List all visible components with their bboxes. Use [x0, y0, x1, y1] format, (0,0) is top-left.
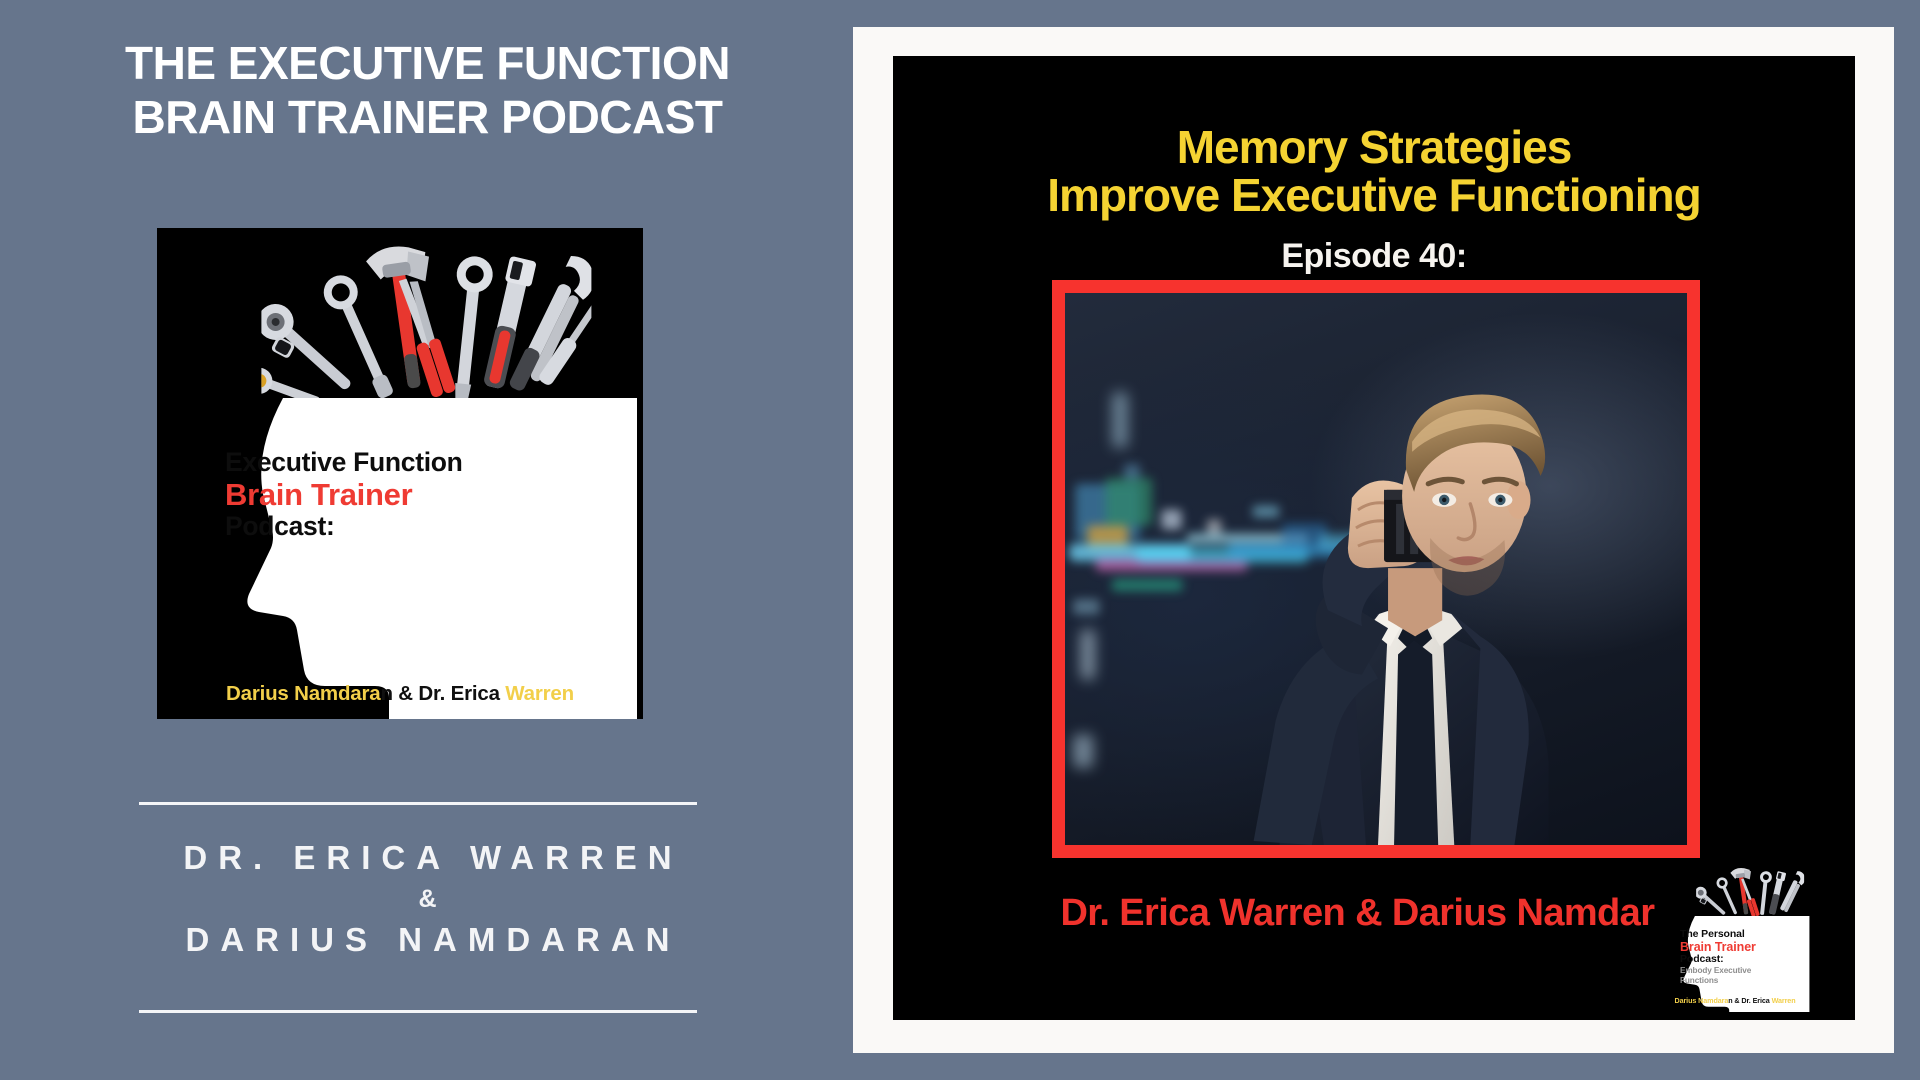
podcast-cover-art: Executive Function Brain Trainer Podcast… — [157, 228, 643, 719]
cover-hosts-part-3: Warren — [500, 682, 574, 705]
cover-art-hosts: Darius Namdaran & Dr. Erica Warren — [157, 682, 643, 706]
episode-title: Memory Strategies Improve Executive Func… — [899, 123, 1849, 220]
show-title: THE EXECUTIVE FUNCTION BRAIN TRAINER POD… — [0, 36, 855, 145]
episode-card: Memory Strategies Improve Executive Func… — [893, 56, 1855, 1020]
divider-top — [139, 802, 697, 805]
mini-line-3: Podcast: — [1680, 954, 1756, 966]
cover-line-2: Brain Trainer — [225, 478, 625, 513]
cover-line-3: Podcast: — [225, 512, 625, 542]
cover-hosts-part-2: n & Dr. Erica — [380, 682, 499, 705]
mini-line-4: Embody Executive Functions — [1680, 966, 1756, 985]
mini-logo-text: The Personal Brain Trainer Podcast: Embo… — [1680, 929, 1756, 985]
host-name-primary: DR. ERICA WARREN — [0, 835, 855, 882]
cover-art-text: Executive Function Brain Trainer Podcast… — [225, 448, 625, 542]
left-panel: THE EXECUTIVE FUNCTION BRAIN TRAINER POD… — [0, 0, 855, 1080]
episode-photo-frame — [1052, 280, 1700, 858]
mini-line-2: Brain Trainer — [1680, 941, 1756, 955]
host-ampersand: & — [0, 882, 855, 918]
cover-hosts-part-1: Darius Namdara — [226, 682, 380, 705]
mini-logo-hosts: Darius Namdaran & Dr. Erica Warren — [1655, 996, 1815, 1005]
person-photo — [1065, 293, 1687, 845]
host-name-secondary: DARIUS NAMDARAN — [0, 917, 855, 964]
episode-card-frame: Memory Strategies Improve Executive Func… — [853, 27, 1894, 1053]
cover-line-1: Executive Function — [225, 448, 625, 478]
mini-hosts-part-2: n & Dr. Erica — [1728, 996, 1769, 1005]
tools-icon — [261, 234, 591, 424]
episode-number: Episode 40: — [899, 237, 1849, 276]
mini-podcast-logo: The Personal Brain Trainer Podcast: Embo… — [1655, 862, 1815, 1012]
divider-bottom — [139, 1010, 697, 1013]
mini-hosts-part-1: Darius Namdara — [1675, 996, 1729, 1005]
episode-photo — [1065, 293, 1687, 845]
mini-hosts-part-3: Warren — [1770, 996, 1796, 1005]
host-names-block: DR. ERICA WARREN & DARIUS NAMDARAN — [0, 835, 855, 964]
mini-line-1: The Personal — [1680, 929, 1756, 941]
